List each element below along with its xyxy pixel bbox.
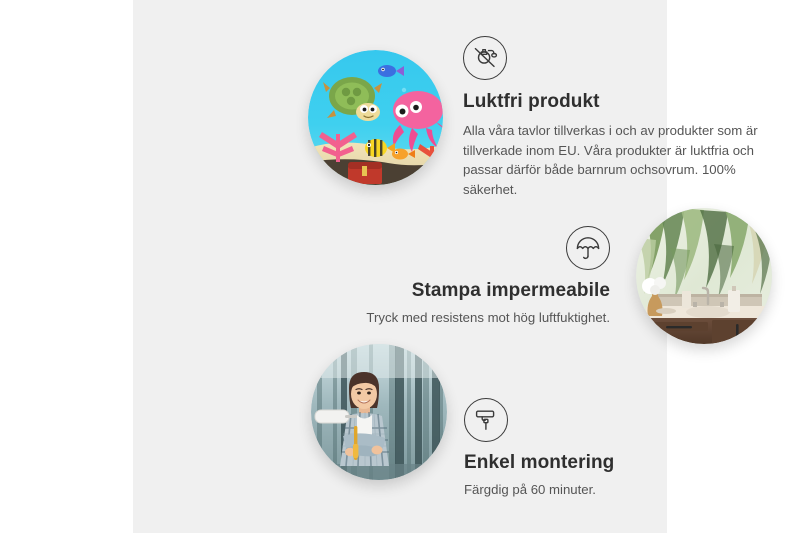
feature-body: Alla våra tavlor tillverkas i och av pro… xyxy=(463,121,763,200)
umbrella-icon xyxy=(566,226,610,270)
feature-easy-mounting: Enkel montering Färgdig på 60 minuter. xyxy=(464,398,744,500)
woman-forest-illustration xyxy=(311,344,447,480)
no-odour-glyph xyxy=(471,44,499,72)
feature-title: Enkel montering xyxy=(464,451,744,475)
feature-waterproof: Stampa impermeabile Tryck med resistens … xyxy=(318,226,610,328)
photo-clip xyxy=(308,50,443,185)
feature-title: Luktfri produkt xyxy=(463,90,763,114)
paint-roller-icon xyxy=(464,398,508,442)
underwater-cartoon-scene-photo xyxy=(308,50,443,185)
no-odour-perfume-bottle-icon xyxy=(463,36,507,80)
feature-odour-free: Luktfri produkt Alla våra tavlor tillver… xyxy=(463,36,763,200)
bathroom-botanical-wallpaper-photo xyxy=(636,208,772,344)
umbrella-glyph xyxy=(574,234,602,262)
paint-roller-glyph xyxy=(472,406,500,434)
bathroom-illustration xyxy=(636,208,772,344)
feature-body: Färgdig på 60 minuter. xyxy=(464,480,744,500)
underwater-illustration xyxy=(308,50,443,185)
woman-with-paint-roller-photo xyxy=(311,344,447,480)
feature-body: Tryck med resistens mot hög luftfuktighe… xyxy=(318,308,610,328)
screenshot-root: Luktfri produkt Alla våra tavlor tillver… xyxy=(0,0,800,533)
content-panel: Luktfri produkt Alla våra tavlor tillver… xyxy=(133,0,667,533)
feature-title: Stampa impermeabile xyxy=(318,279,610,303)
photo-clip xyxy=(636,208,772,344)
photo-clip xyxy=(311,344,447,480)
